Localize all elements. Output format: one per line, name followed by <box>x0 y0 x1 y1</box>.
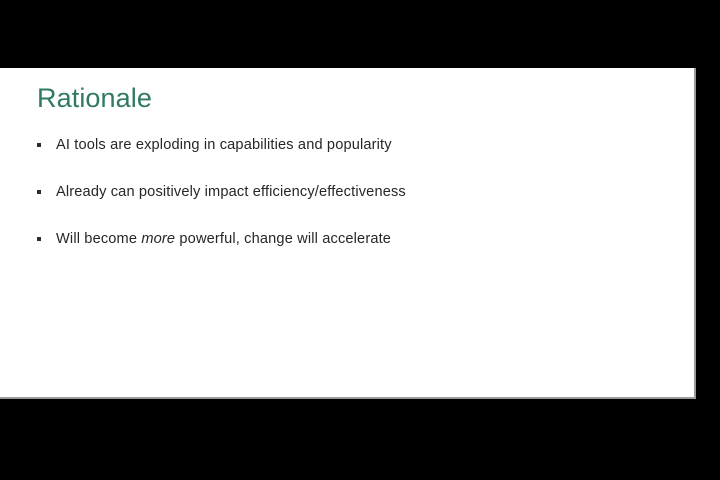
list-item-label: AI tools are exploding in capabilities a… <box>56 136 676 155</box>
bullet-square-icon <box>37 190 41 194</box>
bullet-list: AI tools are exploding in capabilities a… <box>36 136 676 277</box>
list-item: AI tools are exploding in capabilities a… <box>36 136 676 160</box>
video-letterbox-frame: Rationale AI tools are exploding in capa… <box>0 0 720 480</box>
presentation-slide: Rationale AI tools are exploding in capa… <box>0 68 696 399</box>
list-item-text-pre: AI tools are exploding in capabilities a… <box>56 137 392 153</box>
bullet-square-icon <box>37 237 41 241</box>
list-item-text-pre: Will become <box>56 231 141 247</box>
list-item: Already can positively impact efficiency… <box>36 183 676 207</box>
list-item: Will become more powerful, change will a… <box>36 230 676 254</box>
page-title: Rationale <box>37 82 152 114</box>
list-item-label: Will become more powerful, change will a… <box>56 230 676 249</box>
list-item-text-pre: Already can positively impact efficiency… <box>56 184 406 200</box>
list-item-text-post: powerful, change will accelerate <box>175 231 391 247</box>
list-item-label: Already can positively impact efficiency… <box>56 183 676 202</box>
list-item-text-emphasis: more <box>141 231 175 247</box>
bullet-square-icon <box>37 143 41 147</box>
